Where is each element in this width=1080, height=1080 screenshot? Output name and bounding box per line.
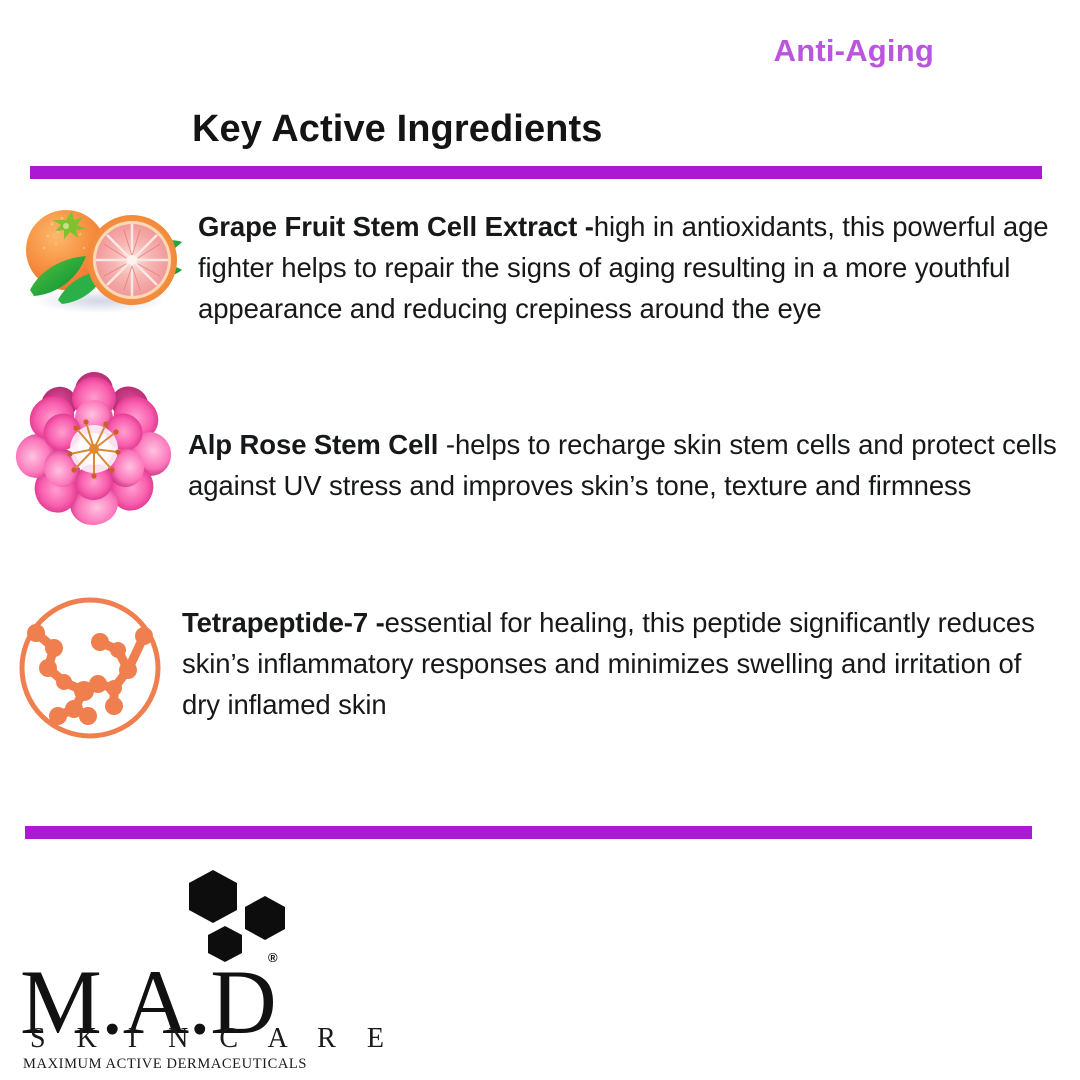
logo-tagline: MAXIMUM ACTIVE DERMACEUTICALS (23, 1056, 307, 1073)
hexagon-cluster-icon (183, 868, 293, 963)
ingredient-item: Grape Fruit Stem Cell Extract -high in a… (14, 198, 1074, 329)
ingredient-text: Alp Rose Stem Cell -helps to recharge sk… (188, 370, 1060, 506)
page-title: Key Active Ingredients (192, 108, 602, 151)
ingredient-name: Tetrapeptide-7 - (182, 607, 385, 638)
logo-skincare-text: S K I N C A R E (30, 1023, 396, 1055)
grapefruit-icon (14, 198, 184, 323)
ingredient-text: Tetrapeptide-7 -essential for healing, t… (182, 592, 1042, 725)
ingredient-text: Grape Fruit Stem Cell Extract -high in a… (198, 198, 1064, 329)
divider-top (30, 166, 1042, 179)
brand-logo: ® M.A.D S K I N C A R E MAXIMUM ACTIVE D… (18, 868, 293, 1073)
ingredient-info-card: Anti-Aging Key Active Ingredients (0, 0, 1080, 1080)
ingredient-name: Alp Rose Stem Cell (188, 429, 446, 460)
alp-rose-icon (14, 370, 174, 533)
ingredient-item: Alp Rose Stem Cell -helps to recharge sk… (14, 370, 1074, 533)
ingredient-item: Tetrapeptide-7 -essential for healing, t… (14, 592, 1074, 749)
divider-bottom (25, 826, 1032, 839)
ingredient-name: Grape Fruit Stem Cell Extract - (198, 211, 594, 242)
peptide-molecule-icon (14, 592, 166, 749)
category-tag: Anti-Aging (0, 33, 934, 69)
